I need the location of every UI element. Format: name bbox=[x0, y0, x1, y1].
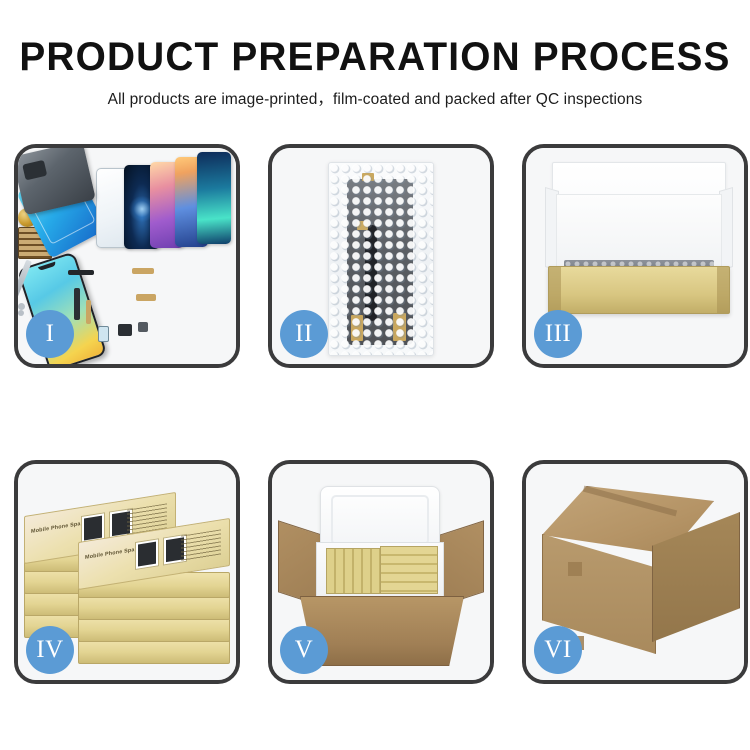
page-header: PRODUCT PREPARATION PROCESS All products… bbox=[0, 0, 750, 109]
camera-module-graphic bbox=[118, 324, 132, 336]
process-step-3: III bbox=[522, 144, 748, 368]
flex-cable-graphic bbox=[132, 268, 154, 274]
flex-cable-graphic bbox=[74, 288, 80, 320]
step-number-badge: V bbox=[280, 626, 328, 674]
step-number-badge: III bbox=[534, 310, 582, 358]
step-number-badge: IV bbox=[26, 626, 74, 674]
carton-tape-graphic bbox=[568, 562, 582, 576]
sim-tray-graphic bbox=[98, 326, 109, 342]
step-number-badge: I bbox=[26, 310, 74, 358]
process-step-4: Mobile Phone Spare Parts Mobile Phone Sp… bbox=[14, 460, 240, 684]
page-subtitle: All products are image-printed，film-coat… bbox=[0, 87, 750, 109]
kraft-box-tray-graphic bbox=[548, 266, 730, 314]
process-step-grid: I II III bbox=[14, 144, 748, 684]
page-title: PRODUCT PREPARATION PROCESS bbox=[11, 36, 739, 78]
small-component-graphic bbox=[138, 322, 148, 332]
flex-cable-graphic bbox=[136, 294, 156, 301]
process-step-2: II bbox=[268, 144, 494, 368]
bubble-wrap-bag-graphic bbox=[328, 162, 434, 356]
step-number-badge: II bbox=[280, 310, 328, 358]
screw-graphic bbox=[18, 310, 24, 316]
bubble-texture-graphic bbox=[329, 163, 433, 355]
step-number-badge: VI bbox=[534, 626, 582, 674]
flex-cable-graphic bbox=[68, 270, 94, 275]
box-spec-lines-graphic bbox=[181, 529, 221, 561]
process-step-5: V bbox=[268, 460, 494, 684]
phone-display-teal-graphic bbox=[197, 152, 231, 244]
flex-cable-graphic bbox=[86, 300, 91, 324]
process-step-6: VI bbox=[522, 460, 748, 684]
process-step-1: I bbox=[14, 144, 240, 368]
box-product-thumbnail bbox=[135, 538, 159, 570]
packed-boxes-graphic bbox=[380, 546, 438, 594]
screw-graphic bbox=[18, 303, 25, 310]
